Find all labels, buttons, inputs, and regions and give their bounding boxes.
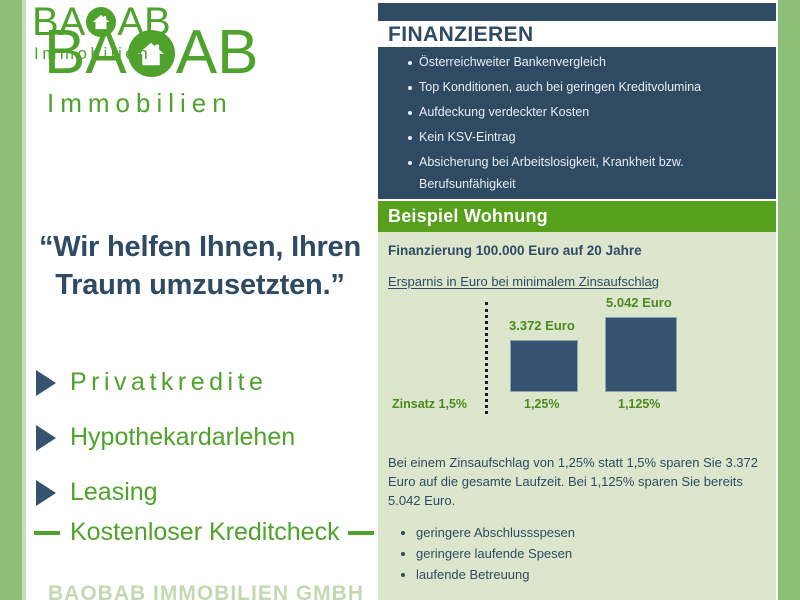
right-green-rail bbox=[778, 0, 800, 600]
headline-quote: “Wir helfen Ihnen, Ihren Traum umzusetzt… bbox=[26, 228, 374, 305]
benefits-list: geringere Abschlussspesen geringere lauf… bbox=[388, 522, 794, 585]
financing-summary-line: Finanzierung 100.000 Euro auf 20 Jahre bbox=[388, 243, 642, 258]
dash-right-icon bbox=[348, 531, 374, 535]
logo-area: BA AB Immobilien BA AB bbox=[26, 0, 374, 130]
list-item: Top Konditionen, auch bei geringen Kredi… bbox=[408, 81, 776, 94]
logo-large-subtitle: Immobilien bbox=[47, 90, 258, 116]
chart-tick-label-1: 1,25% bbox=[524, 397, 559, 411]
beispiel-wohnung-header: Beispiel Wohnung bbox=[378, 201, 776, 232]
bullet-text: Österreichweiter Bankenvergleich bbox=[419, 55, 606, 69]
service-label: Privatkredite bbox=[70, 370, 267, 395]
chart-bar-2 bbox=[605, 317, 677, 392]
list-item: Absicherung bei Arbeitslosigkeit, Krankh… bbox=[408, 156, 776, 190]
triangle-bullet-icon bbox=[36, 370, 56, 396]
logo-small-text-after: AB bbox=[117, 0, 170, 44]
triangle-bullet-icon bbox=[36, 425, 56, 451]
chart-bar-2-value-label: 5.042 Euro bbox=[606, 295, 672, 310]
finanzieren-bullet-list: Österreichweiter Bankenvergleich Top Kon… bbox=[378, 47, 776, 190]
service-label: Leasing bbox=[70, 480, 158, 505]
triangle-bullet-icon bbox=[36, 480, 56, 506]
list-item: geringere laufende Spesen bbox=[416, 543, 794, 564]
logo-small-text-before: BA bbox=[32, 0, 85, 44]
left-panel: BA AB Immobilien BA AB bbox=[26, 0, 374, 600]
bullet-text: Kein KSV-Eintrag bbox=[419, 130, 516, 144]
chart-baseline-dotted-line bbox=[485, 302, 488, 414]
list-item: geringere Abschlussspesen bbox=[416, 522, 794, 543]
logo-large-text-after: AB bbox=[176, 18, 259, 87]
top-navy-strip bbox=[378, 3, 776, 21]
chart-caption: Ersparnis in Euro bei minimalem Zinsaufs… bbox=[388, 274, 659, 289]
house-icon bbox=[86, 7, 116, 37]
chart-bar-1 bbox=[510, 340, 578, 392]
right-panel: FINANZIEREN Österreichweiter Bankenvergl… bbox=[378, 0, 776, 600]
service-item-privatkredite[interactable]: Privatkredite bbox=[26, 355, 374, 410]
beispiel-wohnung-body: Finanzierung 100.000 Euro auf 20 Jahre E… bbox=[378, 232, 776, 600]
left-green-rail bbox=[0, 0, 22, 600]
savings-bar-chart: Zinsatz 1,5% 3.372 Euro 1,25% 5.042 Euro… bbox=[378, 300, 776, 420]
bullet-text-continuation: Berufsunfähigkeit bbox=[419, 178, 776, 191]
service-item-hypothekardarlehen[interactable]: Hypothekardarlehen bbox=[26, 410, 374, 465]
list-item: laufende Betreuung bbox=[416, 564, 794, 585]
slide-canvas: BA AB Immobilien BA AB bbox=[0, 0, 800, 600]
chart-tick-label-2: 1,125% bbox=[618, 397, 660, 411]
service-label: Hypothekardarlehen bbox=[70, 425, 295, 450]
service-item-leasing[interactable]: Leasing bbox=[26, 465, 374, 520]
services-list: Privatkredite Hypothekardarlehen Leasing bbox=[26, 355, 374, 520]
chart-tick-label-baseline: Zinsatz 1,5% bbox=[392, 397, 467, 411]
finanzieren-box: Österreichweiter Bankenvergleich Top Kon… bbox=[378, 47, 776, 199]
finanzieren-title: FINANZIEREN bbox=[388, 22, 534, 48]
logo-baobab-small: BA AB Immobilien bbox=[32, 2, 171, 62]
list-item: Aufdeckung verdeckter Kosten bbox=[408, 106, 776, 119]
list-item: Kein KSV-Eintrag bbox=[408, 131, 776, 144]
logo-small-wordmark: BA AB bbox=[32, 2, 171, 42]
kostenloser-kreditcheck-row[interactable]: Kostenloser Kreditcheck bbox=[26, 520, 374, 545]
chart-bar-1-value-label: 3.372 Euro bbox=[509, 318, 575, 333]
dash-left-icon bbox=[34, 531, 60, 535]
bullet-text: Top Konditionen, auch bei geringen Kredi… bbox=[419, 80, 701, 94]
bullet-text: Absicherung bei Arbeitslosigkeit, Krankh… bbox=[419, 155, 684, 169]
bullet-text: Aufdeckung verdeckter Kosten bbox=[419, 105, 589, 119]
footer-watermark-text: BAOBAB IMMOBILIEN GMBH bbox=[48, 582, 408, 600]
list-item: Österreichweiter Bankenvergleich bbox=[408, 56, 776, 69]
kreditcheck-label: Kostenloser Kreditcheck bbox=[70, 520, 340, 545]
explanation-paragraph: Bei einem Zinsaufschlag von 1,25% statt … bbox=[388, 454, 766, 511]
logo-small-subtitle: Immobilien bbox=[34, 45, 171, 62]
beispiel-wohnung-title: Beispiel Wohnung bbox=[378, 201, 776, 232]
